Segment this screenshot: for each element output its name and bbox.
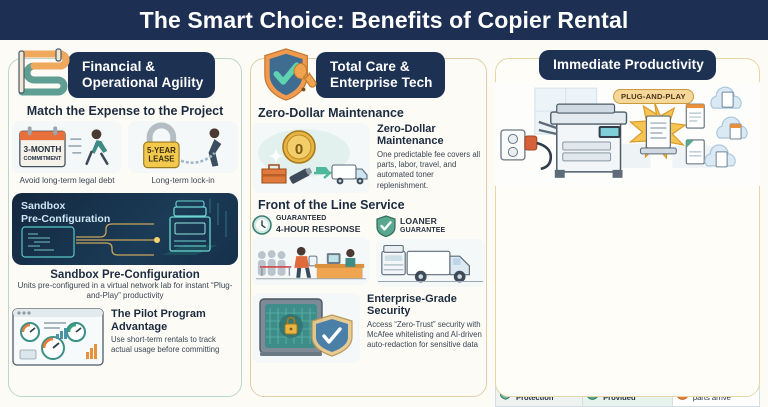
left-column-header: Financial & Operational Agility: [12, 50, 238, 98]
sandbox-body: Units pre-configured in a virtual networ…: [12, 281, 238, 302]
front-line-badges: GUARANTEED 4-HOUR RESPONSE: [252, 215, 485, 287]
check-icon: [586, 336, 599, 349]
zero-dollar-title: Zero-Dollar Maintenance: [252, 106, 485, 120]
header-blank: [496, 303, 583, 330]
tech-subtitle: Advanced security features: [501, 266, 585, 283]
cell-rental-downtime: Loaner Machine Provided: [583, 381, 673, 407]
column-financial-agility: Financial & Operational Agility Match th…: [4, 44, 246, 401]
badge-text: GUARANTEED 4-HOUR RESPONSE: [276, 215, 361, 234]
right-column-header: Immediate Productivity: [495, 48, 760, 80]
item-caption: Long-term lock-in: [128, 176, 238, 186]
tech-item-zero-trust: Zero-Trust Security Advanced security fe…: [501, 209, 585, 283]
cloud-upload-icon: [670, 209, 754, 255]
match-expense-items: 3-MONTH COMMITMENT Avoid long-term legal…: [12, 121, 238, 186]
advanced-tech-title: Advanced Enterprise Tech: [495, 193, 760, 207]
delivery-truck-copier-icon: [376, 239, 485, 287]
zero-dollar-block-body: One predictable fee covers all parts, la…: [377, 150, 485, 191]
padlock-chain-icon: 5-YEAR LEASE: [128, 121, 238, 173]
row-label-repair-cost: Repair Cost: [496, 355, 583, 381]
front-line-title: Front of the Line Service: [252, 198, 485, 212]
shield-check-wrench-icon: [258, 46, 320, 104]
cross-icon: [676, 336, 689, 349]
check-icon: [586, 387, 599, 400]
shield-cloud-lock-icon: [501, 209, 585, 251]
enterprise-security-title: Enterprise-Grade Security: [367, 293, 485, 318]
advanced-tech-items: Zero-Trust Security Advanced security fe…: [495, 209, 760, 283]
middle-column-title: Total Care & Enterprise Tech: [316, 52, 445, 98]
copier-print-icon: [589, 209, 667, 263]
pilot-program-body: Use short-term rentals to track actual u…: [111, 335, 238, 355]
svg-text:COMMITMENT: COMMITMENT: [24, 156, 63, 162]
zero-dollar-block: 0: [252, 123, 485, 193]
infographic-root: The Smart Choice: Benefits of Copier Ren…: [0, 0, 768, 403]
tech-title: Scan-to-Cloud Integration: [670, 260, 754, 279]
match-expense-title: Match the Expense to the Project: [12, 104, 238, 118]
header-owning-copier: OWNING YOUR COPIER: [672, 303, 759, 330]
cell-owning-repair: High (Unexpected Bills): [672, 355, 759, 381]
cell-owning-response: “Filler” Work / Best Effort: [672, 330, 759, 356]
cell-rental-response: Top of the Queue: [583, 330, 673, 356]
middle-column-header: Total Care & Enterprise Tech: [252, 50, 485, 98]
sandbox-title: Sandbox Pre-Configuration: [12, 269, 238, 281]
page-title: The Smart Choice: Benefits of Copier Ren…: [140, 7, 629, 34]
pilot-program-title: The Pilot Program Advantage: [111, 308, 238, 333]
badge-guaranteed-response: GUARANTEED 4-HOUR RESPONSE: [252, 215, 370, 235]
table-header-row: CCTS RENTAL (with SLA) OWNING YOUR COPIE…: [496, 303, 760, 330]
badge-text: LOANER GUARANTEE: [400, 216, 445, 235]
enterprise-security-block: Enterprise-Grade Security Access “Zero-T…: [252, 293, 485, 363]
svg-text:0: 0: [295, 141, 303, 158]
shield-check-icon: [376, 215, 396, 237]
columns-container: Financial & Operational Agility Match th…: [0, 40, 768, 403]
enterprise-security-body: Access “Zero-Trust” security with McAfee…: [367, 320, 485, 350]
title-bar: The Smart Choice: Benefits of Copier Ren…: [0, 0, 768, 40]
calendar-runner-icon: 3-MONTH COMMITMENT: [12, 121, 122, 173]
wrench-icon: [499, 361, 512, 374]
cross-icon: [676, 361, 689, 374]
sandbox-banner: Sandbox Pre-Configuration: [12, 193, 238, 265]
service-counter-icon: [252, 237, 370, 285]
right-column-title: Immediate Productivity: [539, 50, 716, 80]
table-row: Response Priority: [496, 330, 760, 356]
table-row: Downtime Protection: [496, 381, 760, 407]
column-total-care: Total Care & Enterprise Tech Zero-Dollar…: [246, 44, 491, 401]
column-immediate-productivity: Immediate Productivity: [491, 44, 764, 401]
comparison-table: CCTS RENTAL (with SLA) OWNING YOUR COPIE…: [495, 303, 760, 407]
list-item: 3-MONTH COMMITMENT Avoid long-term legal…: [12, 121, 122, 186]
clock-icon: [252, 215, 272, 235]
shield-check-icon: [499, 387, 512, 400]
cross-icon: [676, 387, 689, 400]
plug-and-play-tag: PLUG-AND-PLAY: [613, 89, 694, 104]
zero-dollar-block-title: Zero-Dollar Maintenance: [377, 123, 485, 148]
cell-owning-downtime: Office stops until parts arrive: [672, 381, 759, 407]
scroll-icon: [12, 46, 74, 104]
cell-rental-repair: $0 (All-Inclusive): [583, 355, 673, 381]
row-label-response-priority: Response Priority: [496, 330, 583, 356]
check-icon: [586, 361, 599, 374]
svg-text:LEASE: LEASE: [148, 155, 174, 164]
pilot-program-block: The Pilot Program Advantage Use short-te…: [12, 308, 238, 371]
svg-text:5-YEAR: 5-YEAR: [147, 146, 176, 155]
chat-bubbles-icon: [499, 336, 512, 349]
divider: [501, 189, 754, 190]
hero-scene: PLUG-AND-PLAY: [495, 82, 760, 186]
svg-text:3-MONTH: 3-MONTH: [23, 144, 61, 154]
header-ccts-rental: CCTS RENTAL (with SLA): [583, 303, 673, 330]
sandbox-banner-title: Sandbox Pre-Configuration: [21, 200, 110, 225]
coin-toolbox-truck-icon: 0: [252, 123, 370, 193]
tech-item-scan-cloud: Scan-to-Cloud Integration: [670, 209, 754, 279]
comparison-title: Service Reliability Comparison: [495, 286, 760, 300]
tech-item-copier: [586, 209, 670, 268]
safe-vault-lock-icon: [252, 293, 360, 363]
item-caption: Avoid long-term legal debt: [12, 176, 122, 186]
row-label-downtime-protection: Downtime Protection: [496, 381, 583, 407]
badge-loaner-guarantee: LOANER GUARANTEE: [376, 215, 485, 237]
left-column-title: Financial & Operational Agility: [68, 52, 215, 98]
dashboard-gauges-icon: [12, 308, 104, 371]
table-row: Repair Cost $0 (All: [496, 355, 760, 381]
list-item: 5-YEAR LEASE Long-term lock-in: [128, 121, 238, 186]
